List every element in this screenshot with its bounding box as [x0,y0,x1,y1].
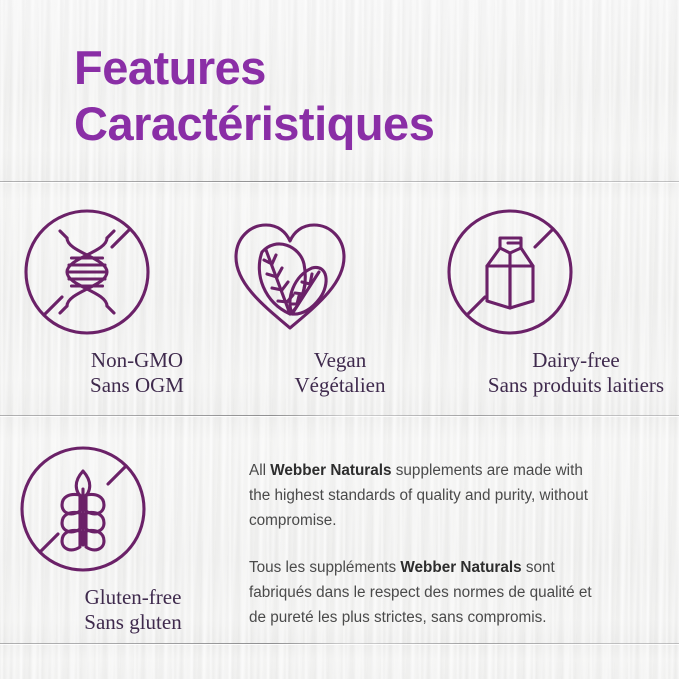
features-panel: Features Caractéristiques [0,0,679,679]
body-fr-prefix: Tous les suppléments [249,559,400,576]
feature-gluten-free: Gluten-free Sans gluten [13,439,253,635]
body-paragraph-en: All Webber Naturals supplements are made… [249,458,601,533]
feature-label-fr: Sans gluten [13,610,253,635]
feature-vegan: Vegan Végétalien [220,202,460,398]
body-copy: All Webber Naturals supplements are made… [249,458,601,630]
feature-label-en: Vegan [220,348,460,373]
feature-caption: Gluten-free Sans gluten [13,585,253,635]
feature-label-fr: Végétalien [220,373,460,398]
feature-label-en: Dairy-free [440,348,679,373]
plank-seam-1 [0,180,679,183]
plank-seam-2 [0,414,679,417]
feature-dairy-free: Dairy-free Sans produits laitiers [440,202,679,398]
plank-seam-3 [0,642,679,645]
body-en-prefix: All [249,462,270,479]
page-title-fr: Caractéristiques [74,96,434,152]
wheat-no-symbol-icon [13,439,253,579]
heart-leaves-icon [220,202,460,342]
feature-caption: Vegan Végétalien [220,348,460,398]
feature-caption: Dairy-free Sans produits laitiers [440,348,679,398]
feature-label-fr: Sans produits laitiers [440,373,679,398]
feature-label-en: Gluten-free [13,585,253,610]
page-title-en: Features [74,40,434,96]
brand-name-fr: Webber Naturals [400,559,521,576]
page-title: Features Caractéristiques [74,40,434,152]
milk-carton-no-symbol-icon [440,202,679,342]
brand-name-en: Webber Naturals [270,462,391,479]
body-paragraph-fr: Tous les suppléments Webber Naturals son… [249,555,601,630]
